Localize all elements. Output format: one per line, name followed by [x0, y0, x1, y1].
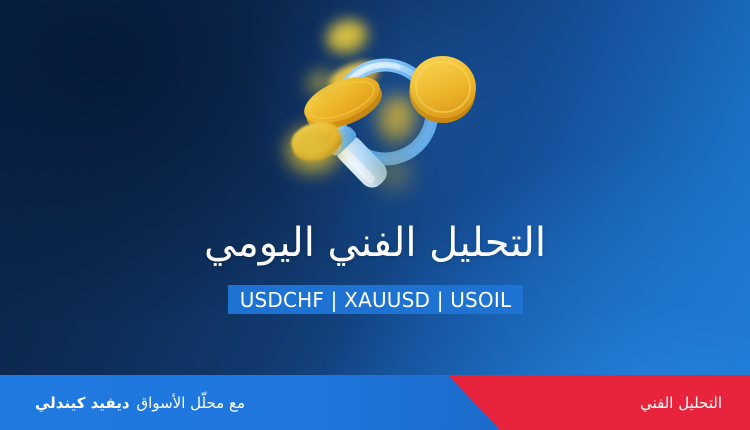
page-title: التحليل الفني اليومي: [0, 222, 750, 265]
analyst-credit-lead: مع محلّل الأسواق: [137, 394, 245, 412]
instruments-badge: USDCHF | XAUUSD | USOIL: [228, 285, 523, 314]
category-label: التحليل الفني: [640, 375, 722, 430]
coin-blurred-left-icon: [286, 127, 340, 173]
analyst-credit: مع محلّل الأسواق ديفيد كيندلي: [20, 375, 270, 430]
magnifying-glass-icon: [280, 2, 490, 207]
footer-bar: مع محلّل الأسواق ديفيد كيندلي التحليل ال…: [0, 375, 750, 430]
promo-banner: التحليل الفني اليومي USDCHF | XAUUSD | U…: [0, 0, 750, 430]
coin-blurred-below-lens-icon: [372, 154, 416, 194]
analyst-name: ديفيد كيندلي: [35, 394, 130, 412]
